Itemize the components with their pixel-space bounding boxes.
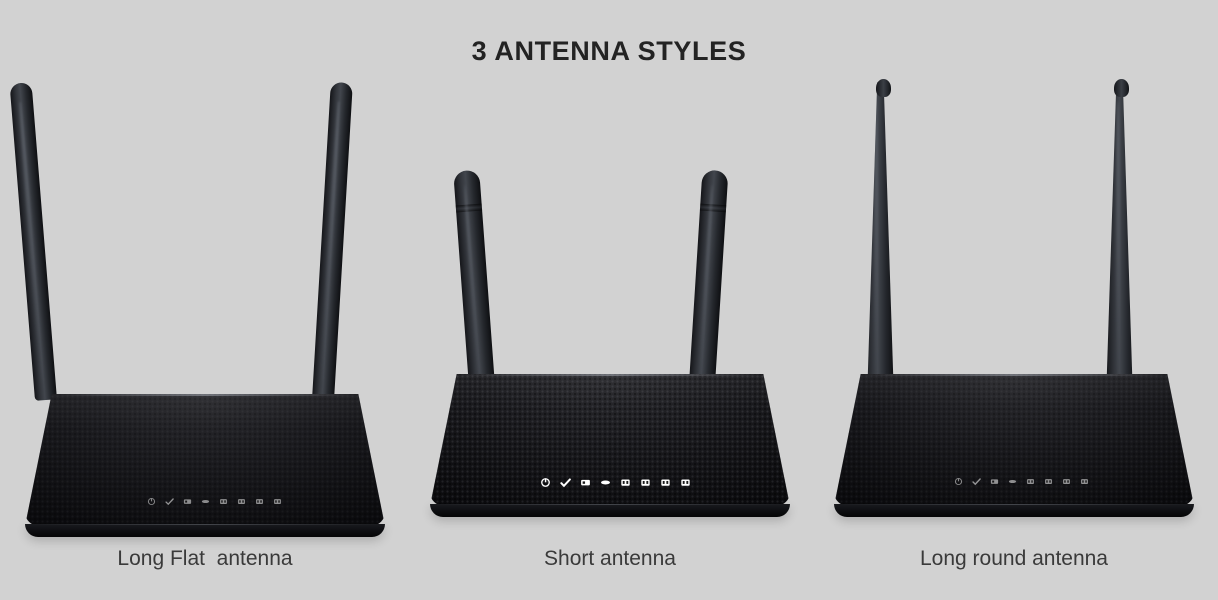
led-indicator-row <box>540 477 691 488</box>
router-front-lip <box>834 504 1194 517</box>
antenna-right-icon <box>688 170 728 401</box>
port1-led-icon <box>219 497 228 506</box>
antenna-left-icon <box>10 82 57 401</box>
port1-led-icon <box>1026 477 1035 486</box>
antenna-right-icon <box>1106 82 1136 400</box>
antenna-left-tip-icon <box>876 79 891 97</box>
antenna-left-icon <box>864 82 894 400</box>
power-led-icon <box>147 497 156 506</box>
wan-led-icon <box>600 477 611 488</box>
antenna-left-icon <box>453 170 496 401</box>
product-long-flat[interactable]: Long Flat antenna <box>0 0 410 600</box>
antenna-right-tip-icon <box>1114 79 1129 97</box>
product-caption-short: Short antenna <box>410 547 810 571</box>
wifi-led-icon <box>165 497 174 506</box>
port2-led-icon <box>1044 477 1053 486</box>
lan-led-icon <box>990 477 999 486</box>
port4-led-icon <box>1080 477 1089 486</box>
mesh-texture <box>834 374 1194 506</box>
port4-led-icon <box>680 477 691 488</box>
router-body <box>25 394 385 537</box>
lan-led-icon <box>580 477 591 488</box>
power-led-icon <box>540 477 551 488</box>
antenna-right-icon <box>312 82 353 401</box>
router-front-lip <box>25 524 385 537</box>
product-long-round[interactable]: Long round antenna <box>810 0 1218 600</box>
led-indicator-row <box>147 497 282 506</box>
port2-led-icon <box>237 497 246 506</box>
port3-led-icon <box>255 497 264 506</box>
top-edge-highlight <box>52 394 359 396</box>
antenna-joint-ring <box>700 204 726 213</box>
port3-led-icon <box>660 477 671 488</box>
product-caption-long-flat: Long Flat antenna <box>0 547 410 571</box>
mesh-texture <box>25 394 385 526</box>
top-edge-highlight <box>457 374 764 376</box>
antenna-joint-ring <box>456 204 482 213</box>
led-indicator-row <box>954 477 1089 486</box>
wifi-led-icon <box>560 477 571 488</box>
port1-led-icon <box>620 477 631 488</box>
router-front-lip <box>430 504 790 517</box>
port4-led-icon <box>273 497 282 506</box>
power-led-icon <box>954 477 963 486</box>
product-comparison-row: Long Flat antenna <box>0 0 1218 600</box>
router-top-panel <box>834 374 1194 506</box>
product-caption-long-round: Long round antenna <box>810 547 1218 571</box>
top-edge-highlight <box>861 374 1168 376</box>
router-body <box>430 374 790 517</box>
product-short[interactable]: Short antenna <box>410 0 810 600</box>
wan-led-icon <box>201 497 210 506</box>
port3-led-icon <box>1062 477 1071 486</box>
router-top-panel <box>430 374 790 506</box>
router-body <box>834 374 1194 517</box>
port2-led-icon <box>640 477 651 488</box>
router-top-panel <box>25 394 385 526</box>
wan-led-icon <box>1008 477 1017 486</box>
wifi-led-icon <box>972 477 981 486</box>
lan-led-icon <box>183 497 192 506</box>
